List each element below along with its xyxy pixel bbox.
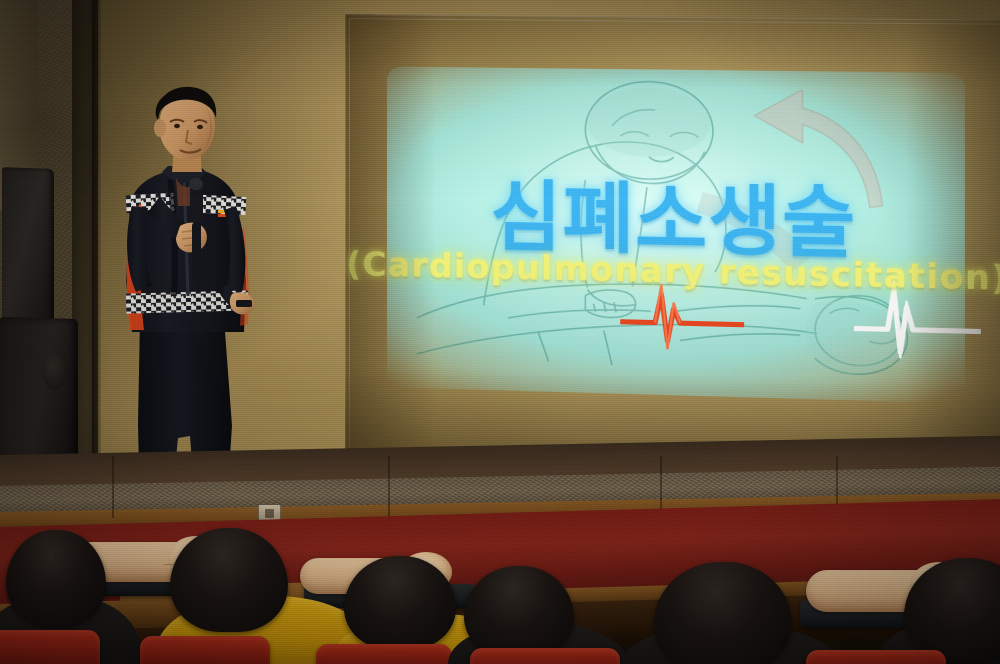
photo-scene: 심폐소생술 (Cardiopulmonary resuscitation) [0,0,1000,664]
audience-head [170,528,288,632]
projection-screen: 심폐소생술 (Cardiopulmonary resuscitation) [345,14,1000,475]
audience-head [464,566,574,658]
auditorium-seat [0,630,100,664]
pa-speaker-top [2,167,54,329]
auditorium-seat [806,650,946,664]
projected-slide: 심폐소생술 (Cardiopulmonary resuscitation) [387,66,965,403]
speaker-cone [42,350,68,390]
wall-seam [388,456,390,518]
auditorium-seat [316,644,452,664]
wall-seam [112,456,114,518]
audience-head [6,530,106,626]
audience-head [344,556,456,650]
auditorium-seat [140,636,270,664]
auditorium-seat [470,648,620,664]
